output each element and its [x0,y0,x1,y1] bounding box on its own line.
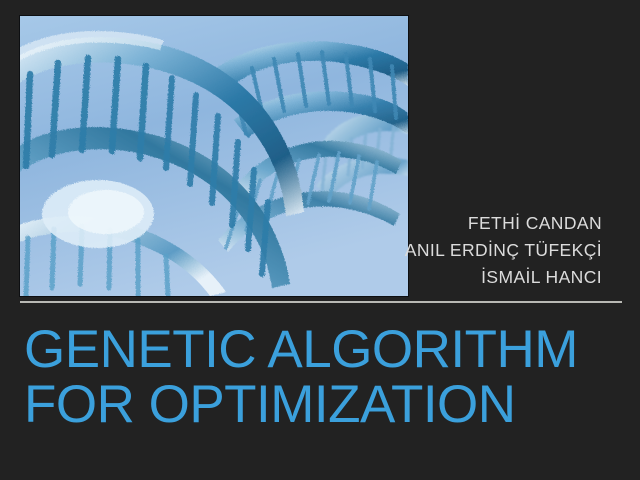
slide-title: GENETIC ALGORITHM FOR OPTIMIZATION [24,322,624,432]
author-name-3: İSMAİL HANCI [405,264,602,291]
dna-helix-image [20,16,408,296]
slide-title-line-1: GENETIC ALGORITHM [24,322,624,377]
dna-helix-illustration [20,16,408,296]
author-name-2: ANIL ERDİNÇ TÜFEKÇİ [405,237,602,264]
title-divider [20,301,622,303]
author-name-1: FETHİ CANDAN [405,210,602,237]
author-list: FETHİ CANDAN ANIL ERDİNÇ TÜFEKÇİ İSMAİL … [405,210,602,291]
presentation-title-slide: FETHİ CANDAN ANIL ERDİNÇ TÜFEKÇİ İSMAİL … [0,0,640,480]
slide-title-line-2: FOR OPTIMIZATION [24,377,624,432]
